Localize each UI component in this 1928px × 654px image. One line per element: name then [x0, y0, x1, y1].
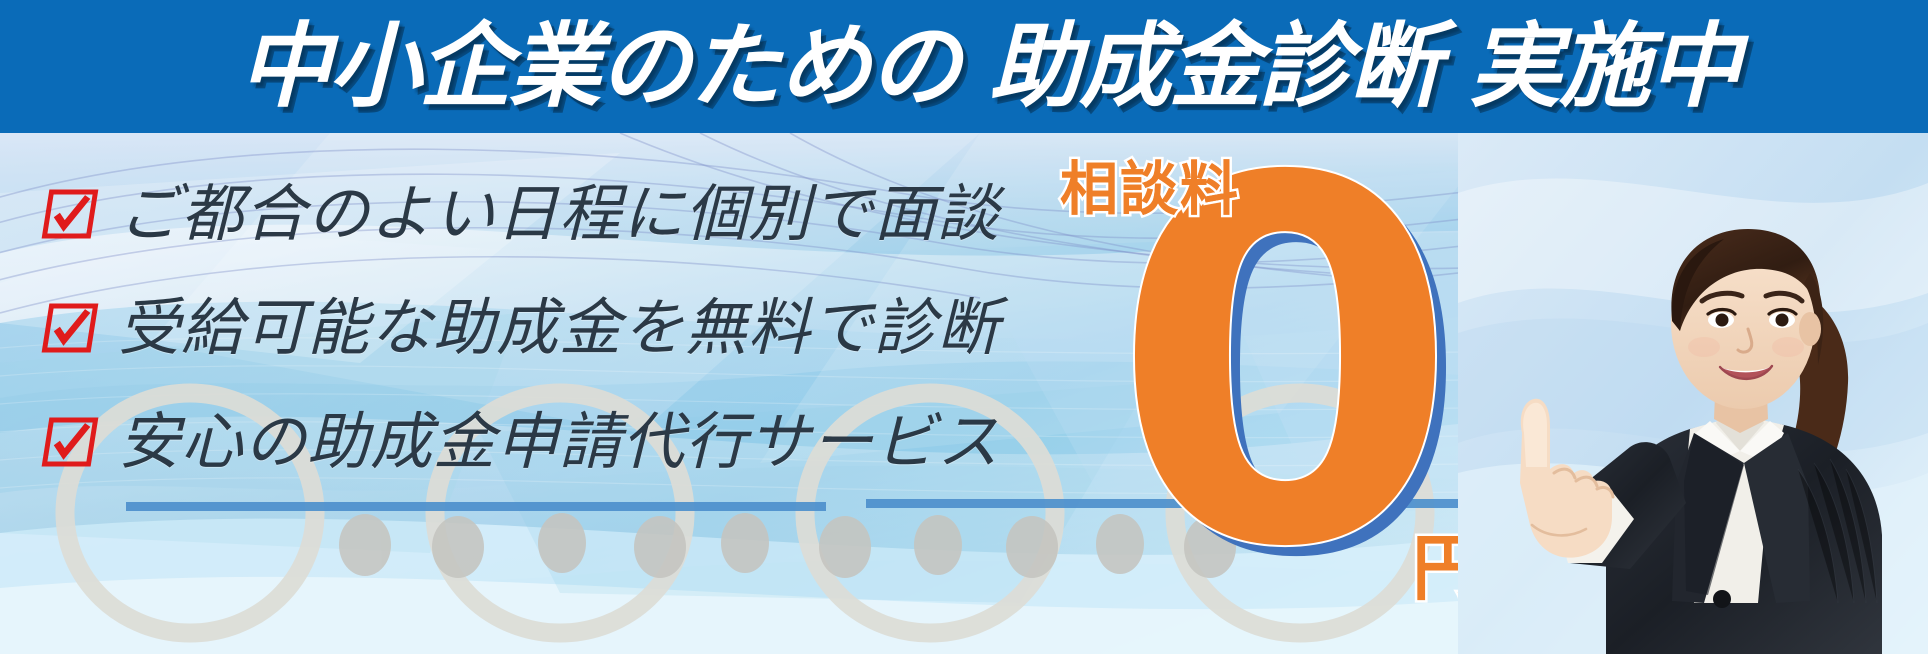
price-block: 0 0 相談料 相談料 円	[1040, 140, 1520, 580]
list-item-label: ご都合のよい日程に個別で面談	[118, 183, 1000, 245]
business-woman-pointing-up-photo	[1458, 133, 1928, 654]
checked-box-icon	[40, 416, 100, 468]
list-item: 受給可能な助成金を無料で診断	[44, 282, 1054, 374]
checked-box-icon	[40, 302, 100, 354]
list-item: ご都合のよい日程に個別で面談	[44, 168, 1054, 260]
checked-box-icon	[40, 188, 100, 240]
banner-root: 中小企業のための 助成金診断 実施中	[0, 0, 1928, 654]
header-band: 中小企業のための 助成金診断 実施中	[0, 0, 1928, 133]
list-item-label: 受給可能な助成金を無料で診断	[118, 297, 1000, 359]
feature-checklist: ご都合のよい日程に個別で面談 受給可能な助成金を無料で診断 安心の助成金申請代行…	[44, 168, 1054, 488]
list-item: 安心の助成金申請代行サービス	[44, 396, 1054, 488]
page-title: 中小企業のための 助成金診断 実施中	[0, 0, 1928, 133]
list-item-label: 安心の助成金申請代行サービス	[118, 411, 1000, 473]
price-label: 相談料	[1060, 160, 1240, 218]
